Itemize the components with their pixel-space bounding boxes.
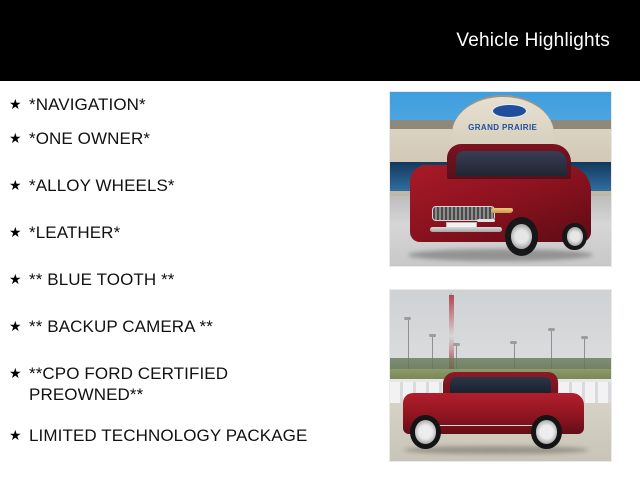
vehicle-bumper [430,227,502,232]
page-title: Vehicle Highlights [456,30,610,52]
alloy-wheel-icon [536,420,557,443]
star-icon: ★ [9,269,29,290]
dealership-sign-text: GRAND PRAIRIE [456,123,549,132]
vehicle-photo-front[interactable]: GRAND PRAIRIE [389,91,612,267]
highlight-label: *LEATHER* [29,222,382,243]
list-item: ★ *LEATHER* [0,222,382,269]
alloy-wheel-icon [415,420,436,443]
vehicle-wheel-front [505,217,538,255]
vehicle-highlights-list: ★ *NAVIGATION* ★ *ONE OWNER* ★ *ALLOY WH… [0,81,382,472]
content-area: ★ *NAVIGATION* ★ *ONE OWNER* ★ *ALLOY WH… [0,81,640,480]
light-pole-head [581,336,588,339]
vehicle-photo-front-image: GRAND PRAIRIE [390,92,611,266]
rocker-trim [427,425,536,426]
alloy-wheel-icon [511,224,533,249]
star-icon: ★ [9,175,29,196]
list-item: ★ *ONE OWNER* [0,128,382,175]
list-item: ★ **CPO FORD CERTIFIED PREOWNED** [0,363,382,425]
list-item: ★ *ALLOY WHEELS* [0,175,382,222]
fog-light-icon [477,219,495,223]
list-item: ★ ** BLUE TOOTH ** [0,269,382,316]
vehicle-wheel-front [410,415,441,449]
highlight-label: *ONE OWNER* [29,128,382,149]
alloy-wheel-icon [567,227,583,245]
star-icon: ★ [9,363,29,384]
highlight-label: *ALLOY WHEELS* [29,175,382,196]
list-item: ★ *NAVIGATION* [0,81,382,128]
highlight-label: ** BLUE TOOTH ** [29,269,382,290]
highlight-label: LIMITED TECHNOLOGY PACKAGE [29,425,382,446]
list-item: ★ ** BACKUP CAMERA ** [0,316,382,363]
vehicle-shadow [408,249,594,261]
headlight-icon [491,208,514,213]
highlight-label: ** BACKUP CAMERA ** [29,316,382,337]
light-pole-head [548,328,555,331]
vehicle-windshield [456,151,567,175]
vehicle-wheel-rear [562,223,586,251]
vehicle-photo-side-image [390,290,611,461]
star-icon: ★ [9,222,29,243]
star-icon: ★ [9,425,29,446]
star-icon: ★ [9,316,29,337]
highlight-label: **CPO FORD CERTIFIED PREOWNED** [29,363,382,405]
list-item: ★ LIMITED TECHNOLOGY PACKAGE [0,425,382,472]
star-icon: ★ [9,94,29,115]
header-bar: Vehicle Highlights [0,0,640,81]
vehicle-photo-side[interactable] [389,289,612,462]
highlight-label: *NAVIGATION* [29,94,382,115]
light-pole-head [453,343,460,346]
star-icon: ★ [9,128,29,149]
